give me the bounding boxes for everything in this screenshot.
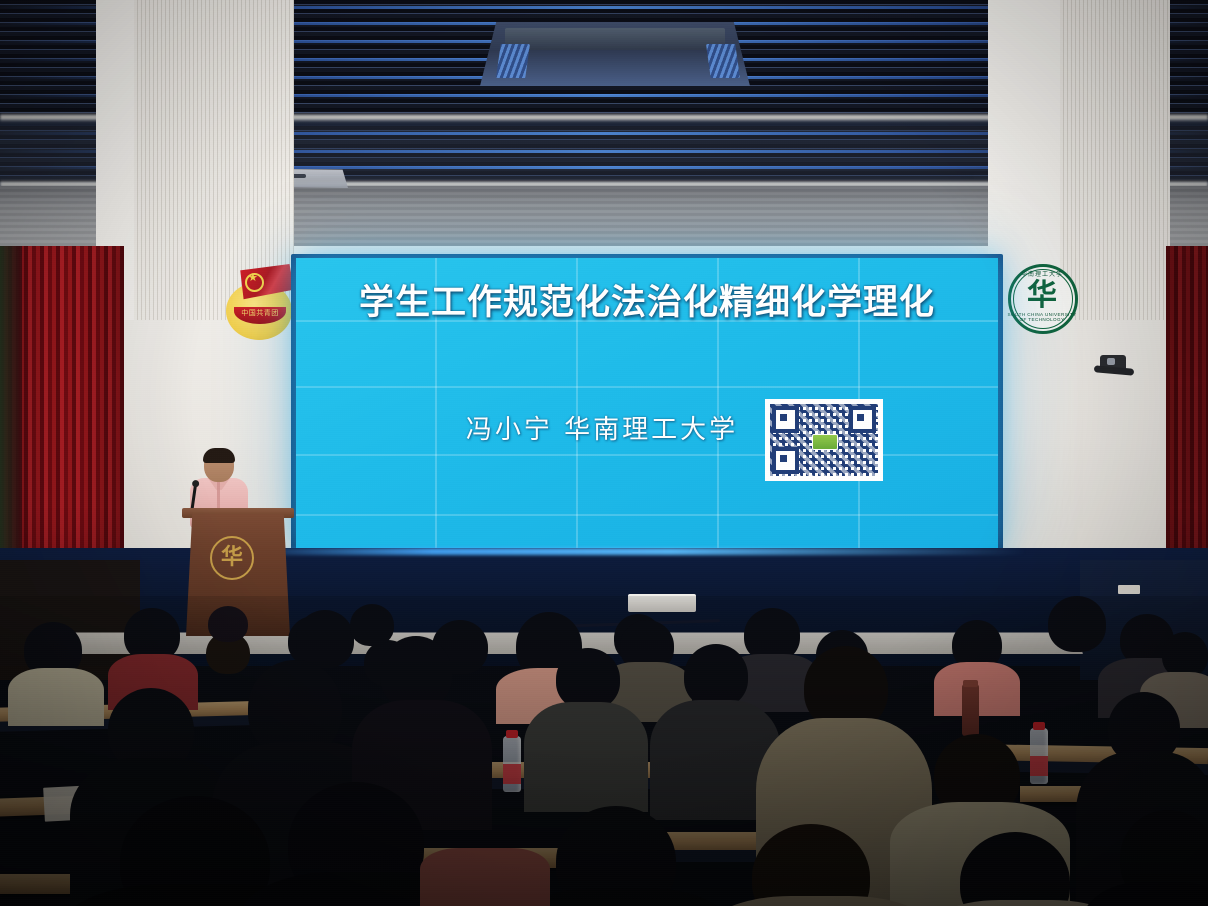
audience-head <box>556 648 620 710</box>
lecture-hall-scene: 中国共青团 华南理工大学 华 SOUTH CHINA UNIVERSITY OF… <box>0 0 1208 906</box>
audience-head <box>380 636 452 710</box>
speaker-hair <box>203 448 235 463</box>
ceiling-air-vent-left <box>496 44 530 78</box>
thermos-cap <box>963 680 978 687</box>
wall-camera-icon <box>1100 355 1126 371</box>
led-video-wall[interactable]: 学生工作规范化法治化精细化学理化 冯小宁 华南理工大学 <box>296 258 998 552</box>
slide-subtitle: 冯小宁 华南理工大学 <box>392 409 812 446</box>
emblem-star-icon <box>245 273 264 292</box>
ceiling-air-diffuser-body <box>505 28 725 50</box>
audience-area <box>0 596 1208 906</box>
bottle-cap <box>1033 722 1045 730</box>
wall-outlet <box>1118 585 1140 594</box>
water-bottle <box>1030 728 1048 784</box>
audience-head <box>684 644 748 708</box>
audience-head <box>208 606 248 642</box>
qr-code[interactable] <box>765 399 883 481</box>
audience-body <box>524 702 648 812</box>
qr-finder-icon <box>772 406 799 433</box>
bottle-label <box>503 764 521 784</box>
audience-head <box>350 604 394 646</box>
stage-edge-light <box>236 548 1026 555</box>
logo-mark: 华 <box>1022 278 1062 316</box>
audience-head <box>296 610 354 668</box>
thermos-bottle <box>962 684 979 736</box>
audience-head <box>1048 596 1106 652</box>
logo-top-text: 华南理工大学 <box>1006 269 1078 278</box>
qr-center-logo <box>812 434 838 450</box>
bottle-cap <box>506 730 518 738</box>
bottle-label <box>1030 756 1048 776</box>
qr-code-pattern <box>770 404 878 476</box>
water-bottle <box>503 736 521 792</box>
ceiling-air-vent-right <box>706 44 740 78</box>
qr-finder-icon <box>772 447 799 474</box>
slide-title: 学生工作规范化法治化精细化学理化 <box>296 274 998 325</box>
qr-finder-icon <box>849 406 876 433</box>
logo-bottom-text: SOUTH CHINA UNIVERSITY OF TECHNOLOGY <box>1006 312 1078 322</box>
podium-logo: 华 <box>210 536 254 580</box>
audience-body <box>8 668 104 726</box>
audience-body <box>420 848 550 906</box>
scut-university-logo: 华南理工大学 华 SOUTH CHINA UNIVERSITY OF TECHN… <box>1006 262 1078 334</box>
emblem-band-text: 中国共青团 <box>234 308 286 318</box>
